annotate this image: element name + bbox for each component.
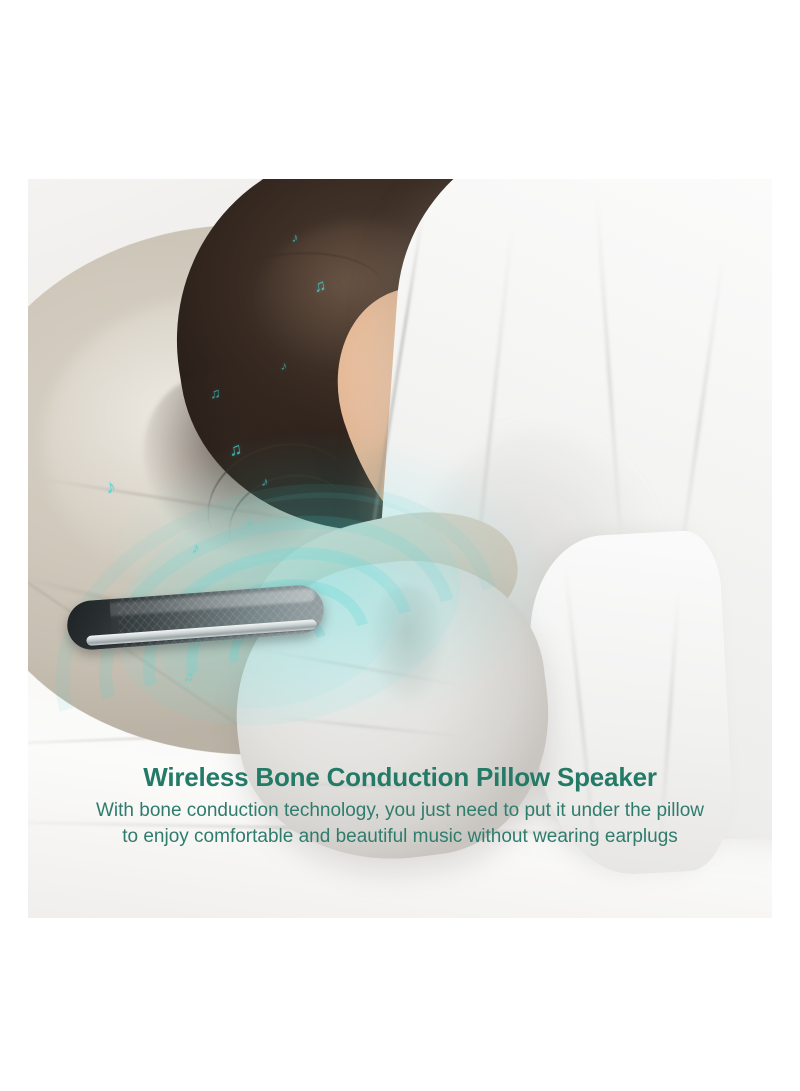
subtitle-line-2: to enjoy comfortable and beautiful music… (0, 824, 800, 850)
music-note-icon: ♪ (291, 230, 299, 244)
page-title: Wireless Bone Conduction Pillow Speaker (0, 762, 800, 793)
subtitle-line-1: With bone conduction technology, you jus… (0, 798, 800, 824)
music-note-icon: ♪ (191, 541, 200, 557)
caption-block: Wireless Bone Conduction Pillow Speaker … (0, 762, 800, 850)
subtitle: With bone conduction technology, you jus… (0, 798, 800, 850)
music-note-icon: ♫ (183, 670, 195, 684)
cushion-pinch (370, 585, 444, 703)
page-canvas: ♪♪♫♪♫♪♫♪♪♫♪♫♪♫ Wireless Bone Conduction … (0, 0, 800, 1091)
music-note-icon: ♫ (210, 386, 221, 401)
music-note-icon: ♫ (228, 441, 243, 460)
